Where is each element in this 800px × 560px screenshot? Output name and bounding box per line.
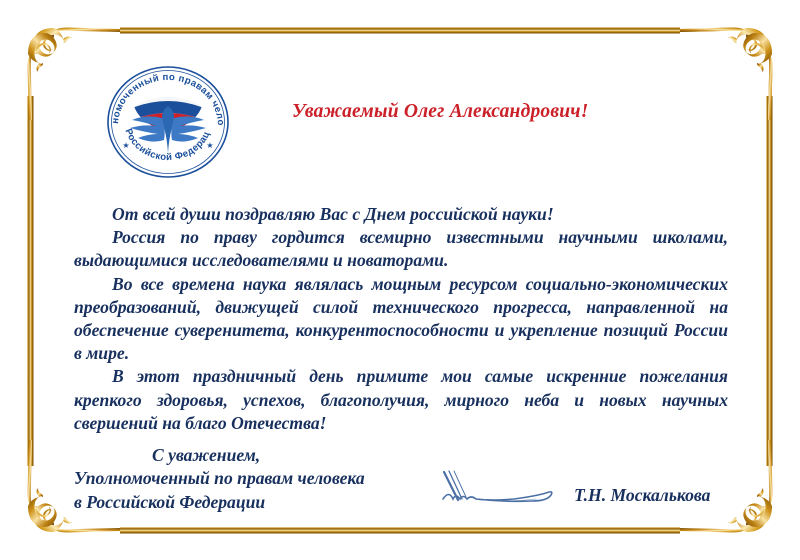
body-paragraph-3: Во все времена наука являлась мощным рес… bbox=[74, 273, 728, 366]
frame-bar-bottom bbox=[120, 527, 680, 534]
closing-regards: С уважением, bbox=[74, 444, 365, 467]
signer-name: Т.Н. Москалькова bbox=[574, 485, 710, 506]
frame-bar-left bbox=[27, 96, 34, 466]
emblem-star-left-icon: ★ bbox=[122, 141, 129, 150]
body-paragraph-4: В этот праздничный день примите мои самы… bbox=[74, 365, 728, 435]
closing-title-line-2: в Российской Федерации bbox=[74, 491, 365, 514]
frame-bar-right bbox=[766, 96, 773, 466]
letter-page: Уполномоченный по правам человека в Росс… bbox=[0, 0, 800, 560]
salutation: Уважаемый Олег Александрович! bbox=[292, 101, 589, 123]
ornament-corner-top-right-icon bbox=[672, 8, 792, 128]
handwritten-signature bbox=[440, 466, 580, 518]
letter-body: От всей души поздравляю Вас с Днем росси… bbox=[74, 203, 728, 435]
closing-block: С уважением, Уполномоченный по правам че… bbox=[74, 444, 365, 514]
emblem-star-right-icon: ★ bbox=[206, 141, 213, 150]
commissioner-for-human-rights-emblem: Уполномоченный по правам человека в Росс… bbox=[104, 62, 232, 180]
frame-bar-top bbox=[120, 27, 680, 34]
body-paragraph-2: Россия по праву гордится всемирно извест… bbox=[74, 226, 728, 272]
closing-title-line-1: Уполномоченный по правам человека bbox=[74, 467, 365, 490]
body-paragraph-1: От всей души поздравляю Вас с Днем росси… bbox=[74, 203, 728, 226]
